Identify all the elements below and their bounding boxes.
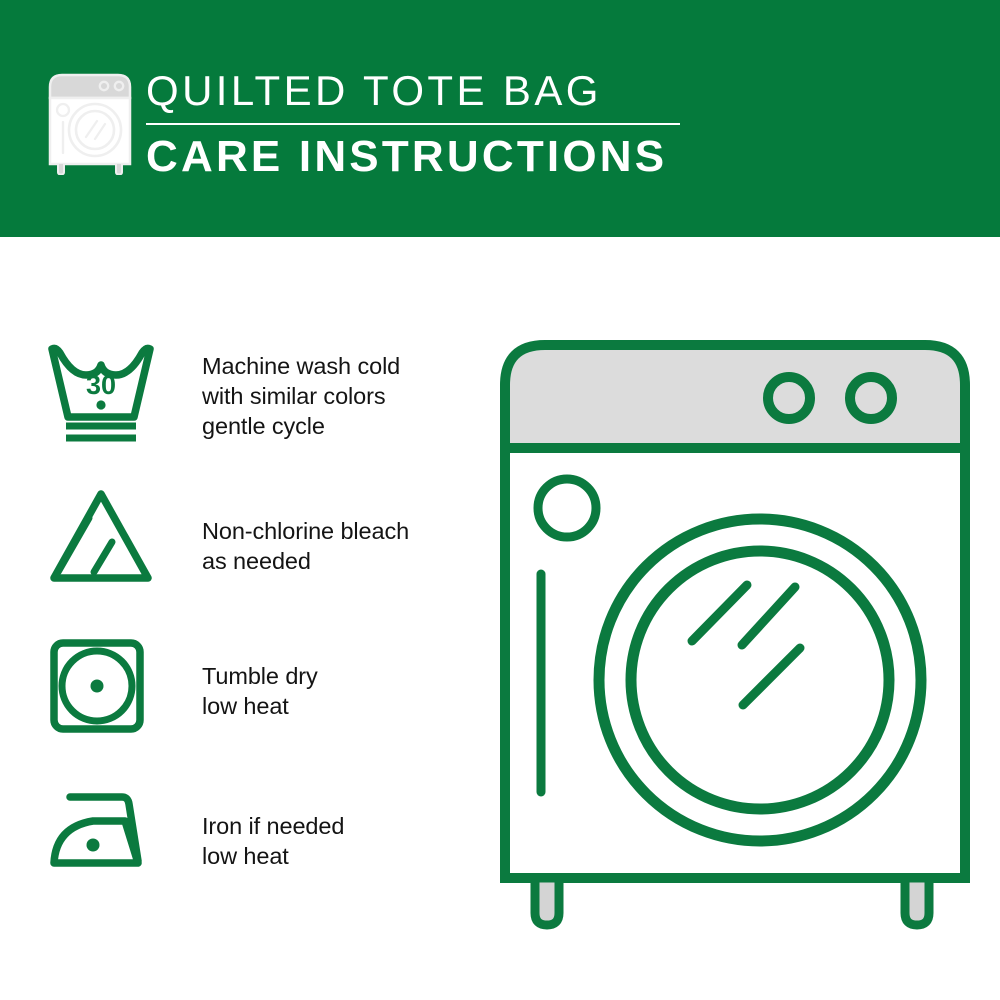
iron-low-heat-icon	[46, 789, 156, 875]
title-divider	[146, 123, 680, 125]
care-row-bleach: Non-chlorine bleach as needed	[0, 488, 470, 586]
header-banner: QUILTED TOTE BAG CARE INSTRUCTIONS	[0, 0, 1000, 237]
care-row-machine-wash: 30 Machine wash cold with similar colors…	[0, 341, 470, 445]
page-title-secondary: CARE INSTRUCTIONS	[146, 131, 706, 183]
foot-left	[535, 878, 559, 925]
care-label-machine-wash: Machine wash cold with similar colors ge…	[202, 341, 400, 441]
tumble-dry-low-heat-icon	[46, 637, 156, 735]
care-instructions-page: QUILTED TOTE BAG CARE INSTRUCTIONS 30	[0, 0, 1000, 1000]
front-load-washing-machine-illustration	[495, 330, 975, 940]
wash-temperature-value: 30	[86, 370, 116, 400]
header-title-block: QUILTED TOTE BAG CARE INSTRUCTIONS	[146, 66, 706, 183]
non-chlorine-bleach-triangle-icon	[46, 488, 156, 586]
care-row-tumble-dry: Tumble dry low heat	[0, 637, 470, 735]
washing-machine-icon	[42, 67, 138, 175]
care-label-tumble-dry: Tumble dry low heat	[202, 637, 318, 721]
care-label-bleach: Non-chlorine bleach as needed	[202, 488, 409, 576]
foot-right	[905, 878, 929, 925]
machine-body	[505, 448, 965, 878]
page-title-primary: QUILTED TOTE BAG	[146, 66, 706, 116]
care-label-iron: Iron if needed low heat	[202, 789, 344, 871]
wash-tub-30-gentle-icon: 30	[46, 341, 156, 445]
care-row-iron: Iron if needed low heat	[0, 789, 470, 875]
care-instructions-list: 30 Machine wash cold with similar colors…	[0, 237, 470, 1000]
